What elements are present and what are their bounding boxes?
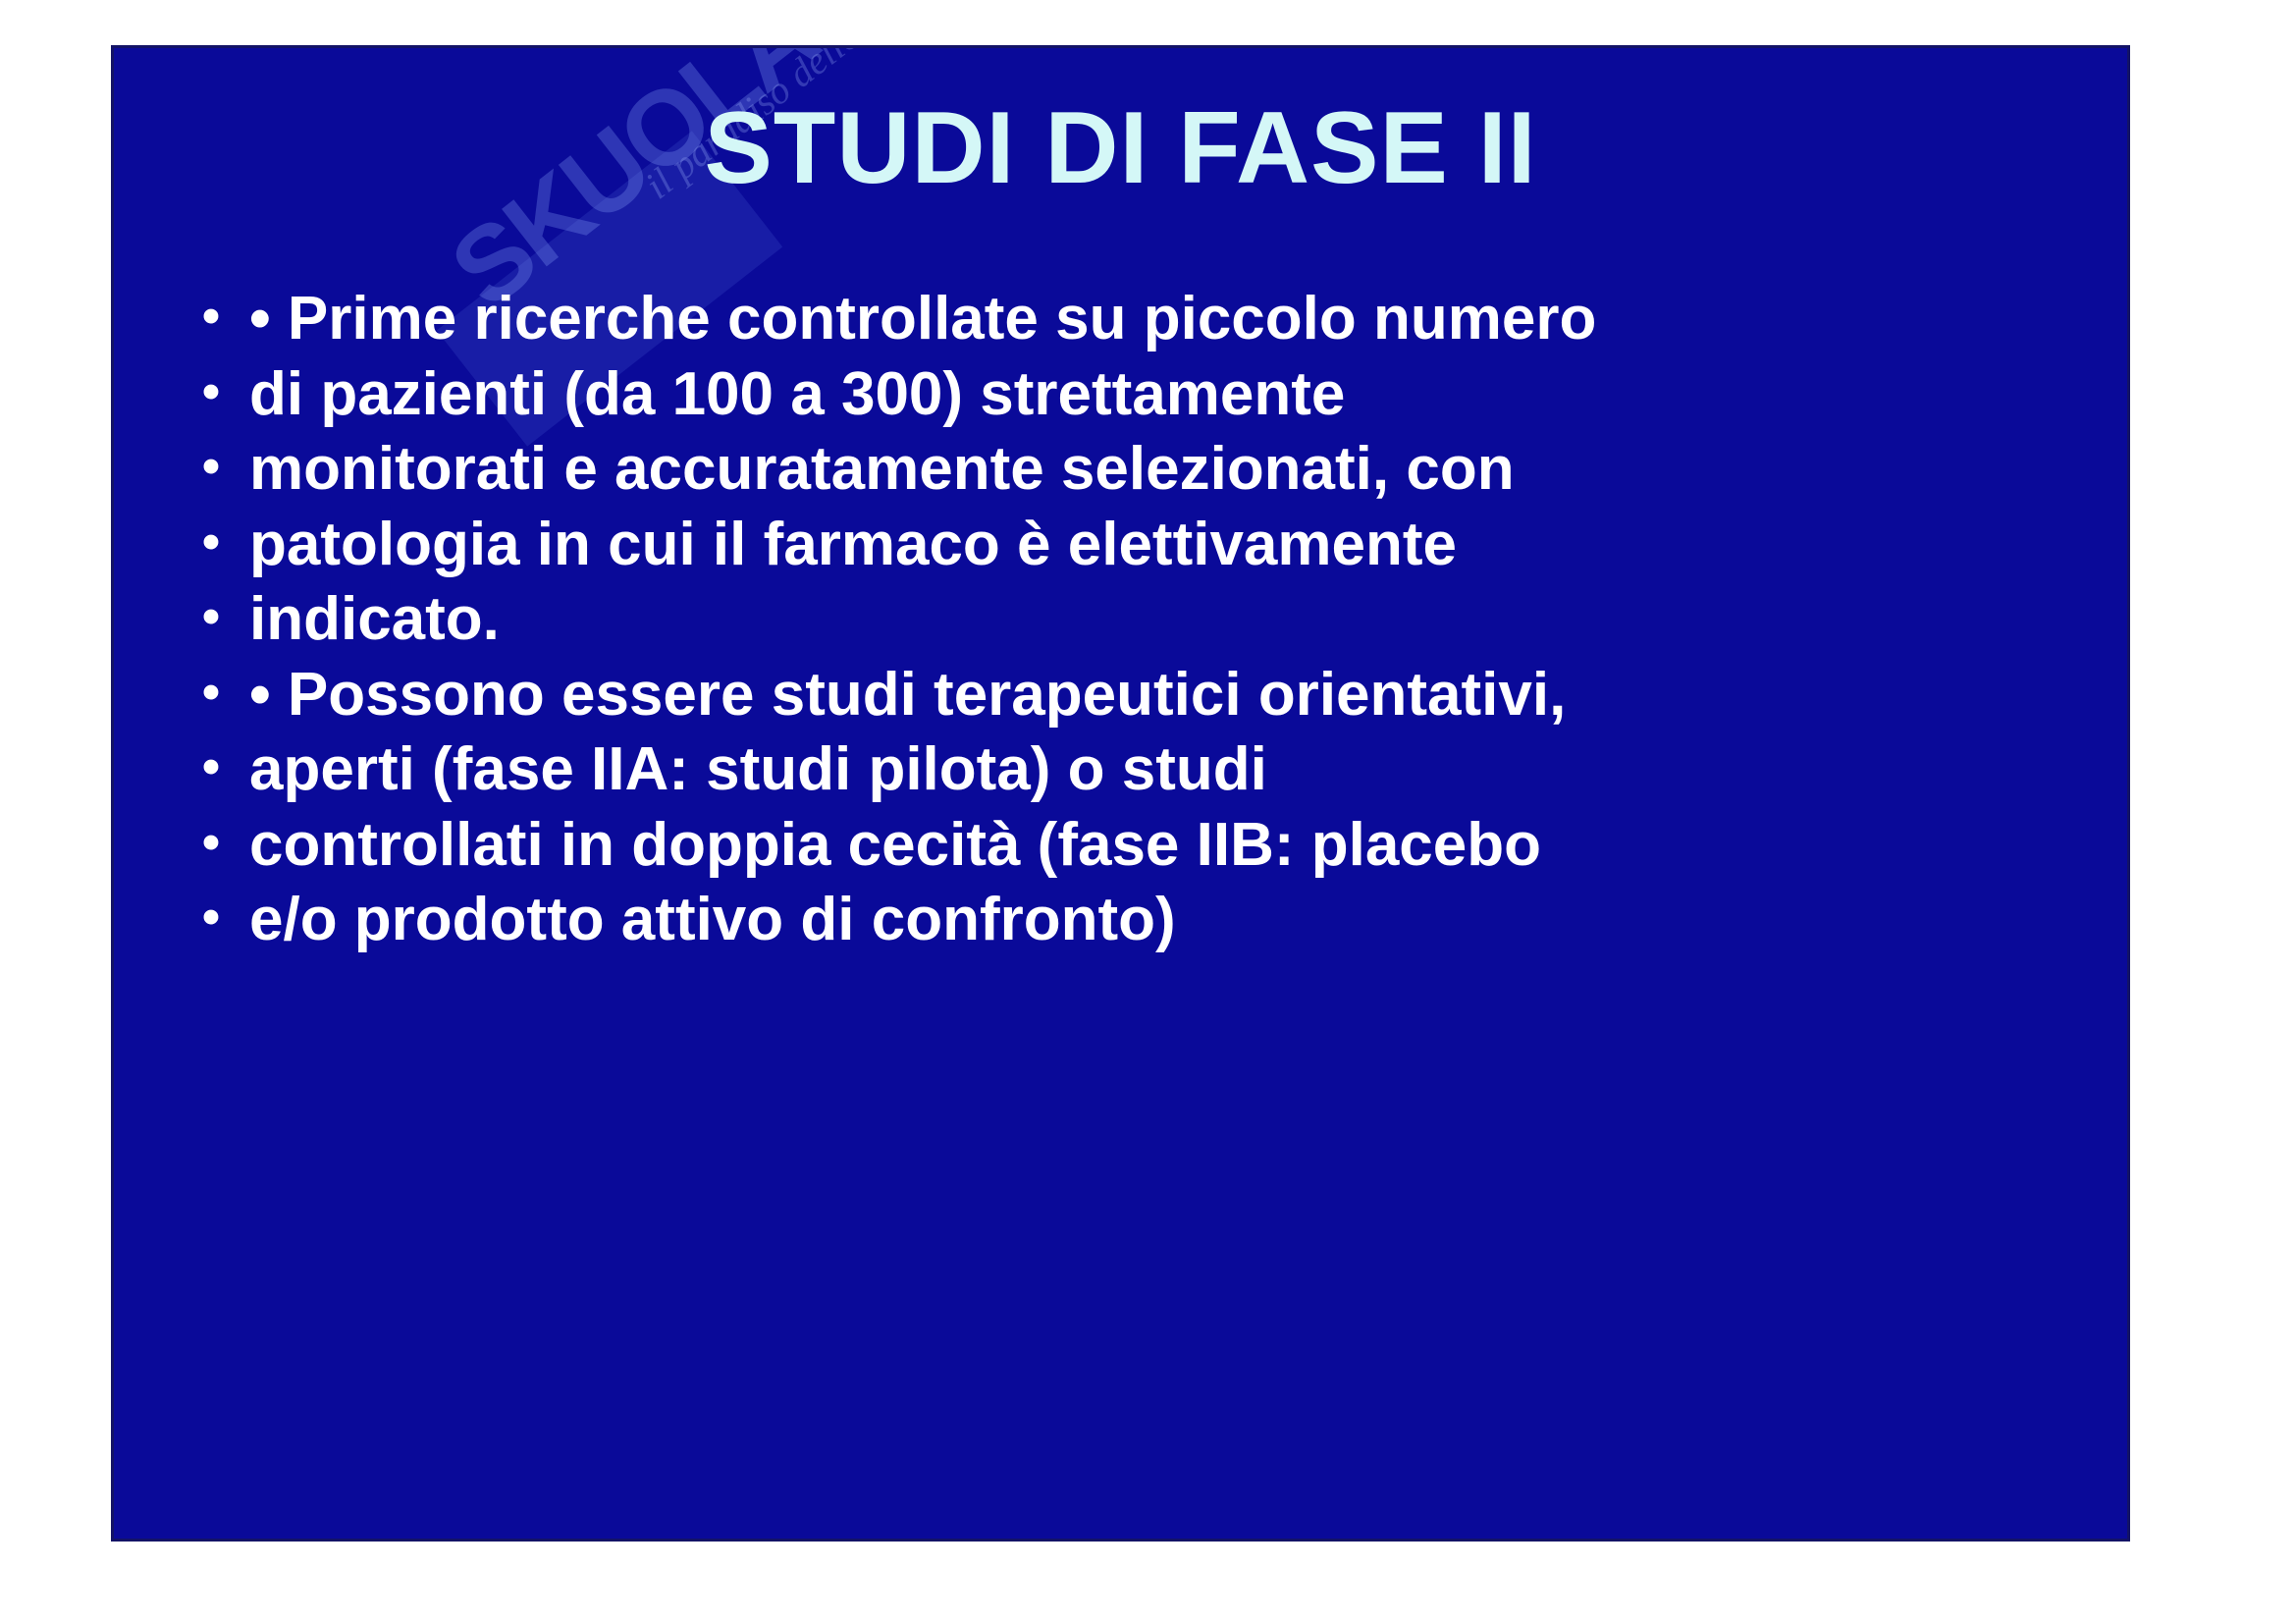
list-item-label: patologia in cui il farmaco è elettivame… bbox=[249, 510, 2088, 581]
list-item-label: controllati in doppia cecità (fase IIB: … bbox=[249, 810, 2088, 882]
bullet-point-icon: • bbox=[173, 359, 249, 426]
slide-content: STUDI DI FASE II • • Prime ricerche cont… bbox=[114, 48, 2127, 1539]
slide-title: STUDI DI FASE II bbox=[114, 95, 2127, 202]
list-item: • e/o prodotto attivo di confronto) bbox=[173, 885, 2088, 956]
bullet-point-icon: • bbox=[173, 284, 249, 351]
list-item-label: • Possono essere studi terapeutici orien… bbox=[249, 660, 2088, 731]
list-item-label: e/o prodotto attivo di confronto) bbox=[249, 885, 2088, 956]
bullet-point-icon: • bbox=[173, 510, 249, 576]
bullet-point-icon: • bbox=[173, 810, 249, 877]
list-item-label: monitorati e accuratamente selezionati, … bbox=[249, 434, 2088, 506]
bullet-point-icon: • bbox=[173, 584, 249, 651]
slide-page: SKUOLA.net il paradiso dello studente ST… bbox=[0, 0, 2296, 1623]
list-item: • di pazienti (da 100 a 300) strettament… bbox=[173, 359, 2088, 431]
bullet-point-icon: • bbox=[173, 885, 249, 951]
list-item: • indicato. bbox=[173, 584, 2088, 656]
list-item-label: indicato. bbox=[249, 584, 2088, 656]
list-item: • aperti (fase IIA: studi pilota) o stud… bbox=[173, 734, 2088, 806]
list-item-label: • Prime ricerche controllate su piccolo … bbox=[249, 284, 2088, 355]
list-item: • patologia in cui il farmaco è elettiva… bbox=[173, 510, 2088, 581]
list-item: • controllati in doppia cecità (fase IIB… bbox=[173, 810, 2088, 882]
list-item: • • Possono essere studi terapeutici ori… bbox=[173, 660, 2088, 731]
list-item: • • Prime ricerche controllate su piccol… bbox=[173, 284, 2088, 355]
list-item: • monitorati e accuratamente selezionati… bbox=[173, 434, 2088, 506]
list-item-label: aperti (fase IIA: studi pilota) o studi bbox=[249, 734, 2088, 806]
bullet-point-icon: • bbox=[173, 660, 249, 727]
bullet-point-icon: • bbox=[173, 734, 249, 801]
list-item-label: di pazienti (da 100 a 300) strettamente bbox=[249, 359, 2088, 431]
bullet-point-icon: • bbox=[173, 434, 249, 501]
slide-canvas: SKUOLA.net il paradiso dello studente ST… bbox=[111, 45, 2130, 1542]
bullet-list: • • Prime ricerche controllate su piccol… bbox=[173, 284, 2088, 960]
